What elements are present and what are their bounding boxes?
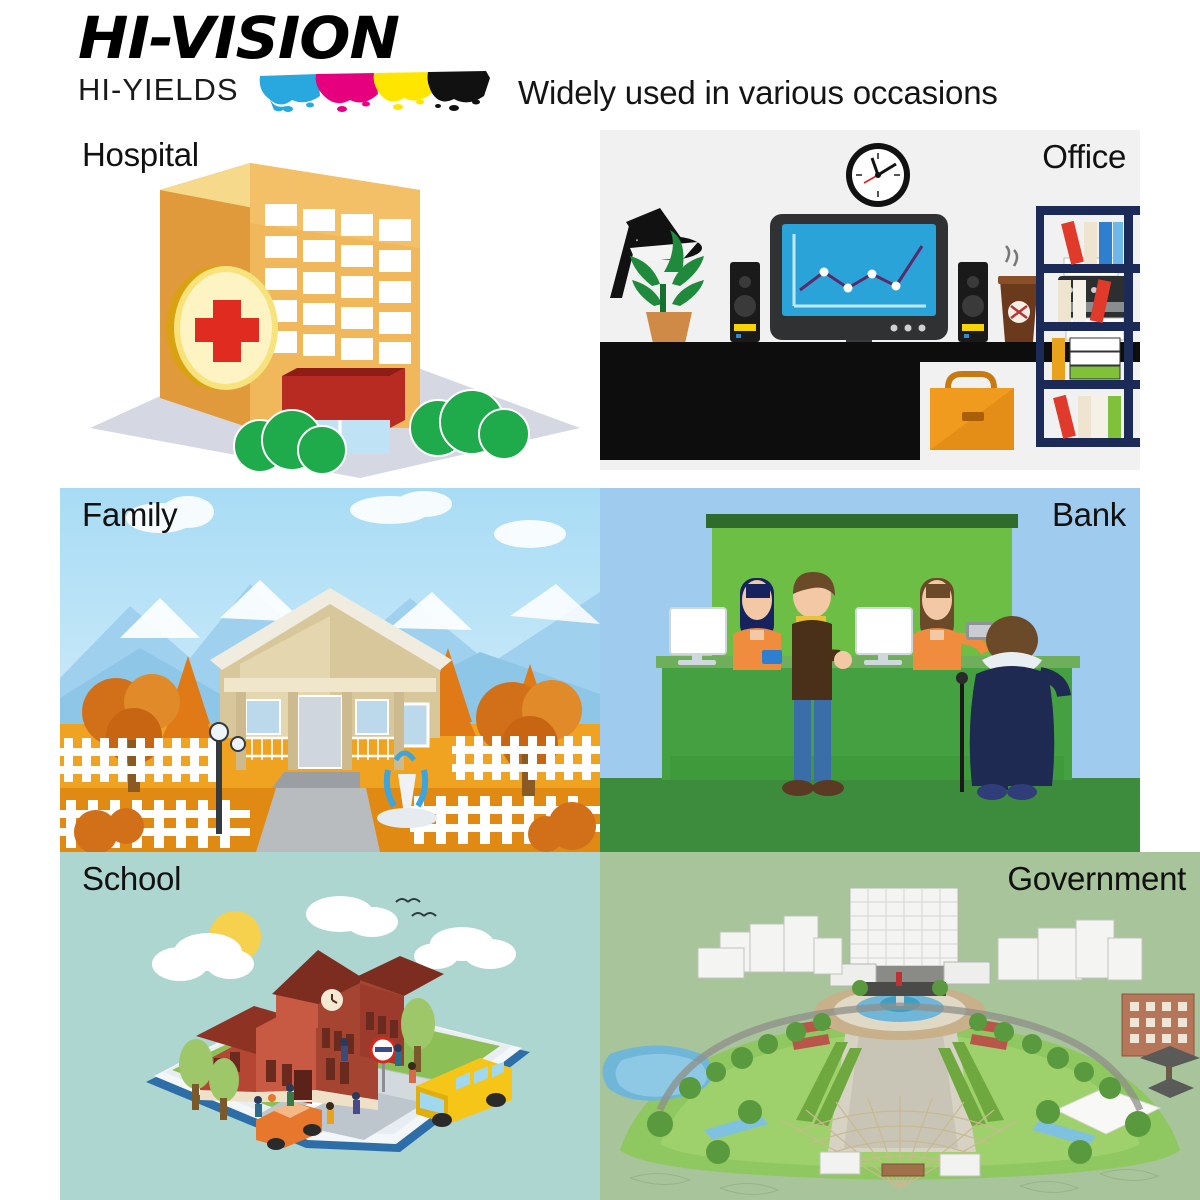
hospital-illustration [60, 128, 600, 488]
bank-illustration [600, 488, 1140, 852]
logo-wordmark-primary: HI-VISION [78, 6, 515, 70]
government-plaza-illustration [600, 852, 1200, 1200]
office-illustration [600, 130, 1140, 470]
binder-shelf-icon [1036, 206, 1140, 447]
family-house-illustration [60, 488, 600, 852]
speaker-left-icon [730, 262, 760, 342]
panel-label-office: Office [1042, 138, 1126, 176]
speaker-right-icon [958, 262, 988, 342]
panel-label-school: School [82, 860, 181, 898]
panel-school: School [60, 852, 600, 1200]
panel-office: Office [600, 130, 1140, 470]
wall-clock-icon [846, 143, 910, 207]
panel-label-government: Government [1007, 860, 1186, 898]
panel-government: Government [600, 852, 1200, 1200]
coffee-cup-icon [998, 246, 1040, 342]
school-illustration [60, 852, 600, 1200]
panel-label-family: Family [82, 496, 177, 534]
panel-label-bank: Bank [1052, 496, 1126, 534]
briefcase-icon [930, 374, 1014, 450]
panel-label-hospital: Hospital [82, 136, 199, 174]
panel-bank: Bank [600, 488, 1140, 852]
panel-family: Family [60, 488, 600, 852]
page-headline: Widely used in various occasions [518, 74, 998, 112]
header: HI-VISION HI-YIELDS Widely used in vario… [0, 0, 1200, 128]
cmyk-ink-splatter-icon [258, 66, 493, 114]
panel-hospital: Hospital [60, 128, 600, 488]
